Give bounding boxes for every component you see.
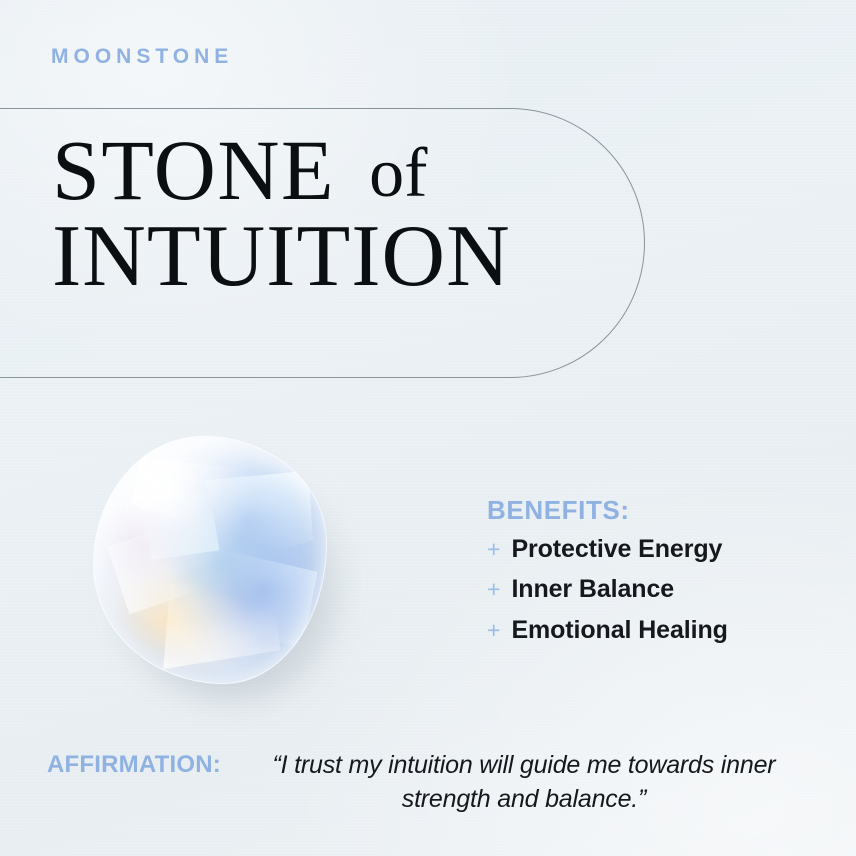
headline-word-stone: STONE — [52, 122, 335, 218]
crystal-rim-light — [93, 436, 327, 684]
benefit-item: + Protective Energy — [487, 532, 817, 568]
moonstone-icon — [93, 436, 327, 684]
crystal-name-eyebrow: MOONSTONE — [51, 46, 233, 67]
moonstone-crystal-image — [83, 428, 353, 713]
plus-icon: + — [487, 578, 500, 601]
plus-icon: + — [487, 538, 500, 561]
affirmation-label: AFFIRMATION: — [47, 748, 221, 782]
benefit-label: Emotional Healing — [511, 613, 727, 649]
headline: STONEof INTUITION — [52, 128, 672, 300]
benefit-item: + Emotional Healing — [487, 613, 817, 649]
benefit-label: Protective Energy — [511, 532, 722, 568]
headline-word-intuition: INTUITION — [52, 208, 511, 305]
plus-icon: + — [487, 619, 500, 642]
benefits-section: BENEFITS: + Protective Energy + Inner Ba… — [487, 496, 817, 653]
headline-line-2: INTUITION — [52, 213, 672, 300]
benefit-label: Inner Balance — [511, 572, 674, 608]
headline-line-1: STONEof — [52, 128, 672, 213]
benefits-heading: BENEFITS: — [487, 496, 817, 525]
benefits-list: + Protective Energy + Inner Balance + Em… — [487, 532, 817, 649]
affirmation-quote: “I trust my intuition will guide me towa… — [231, 748, 817, 816]
affirmation-section: AFFIRMATION: “I trust my intuition will … — [47, 748, 817, 816]
benefit-item: + Inner Balance — [487, 572, 817, 608]
headline-word-of: of — [369, 135, 427, 212]
moonstone-crystal-card: MOONSTONE STONEof INTUITION BENEFITS: + … — [0, 0, 856, 856]
